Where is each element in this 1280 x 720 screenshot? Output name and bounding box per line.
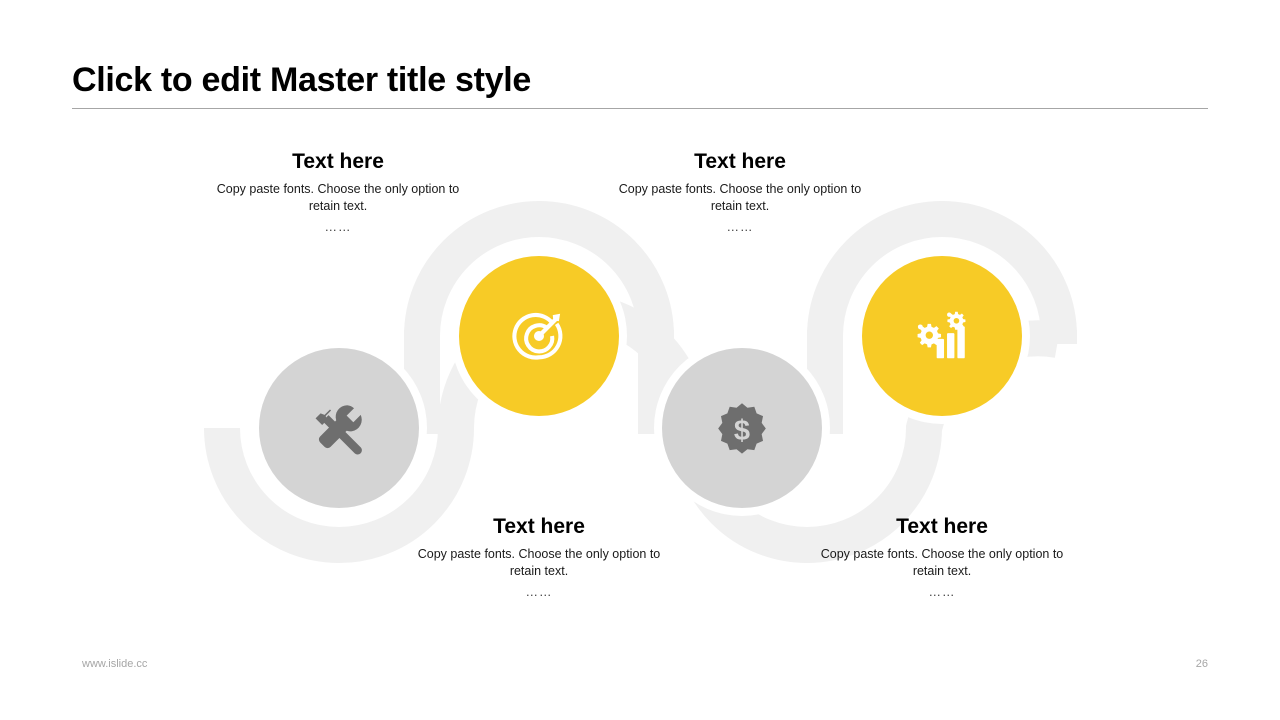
text-block-heading[interactable]: Text here (409, 513, 669, 540)
text-block-body[interactable]: Copy paste fonts. Choose the only option… (812, 546, 1072, 580)
text-block-ellipsis: …… (812, 584, 1072, 601)
node-bar-chart-gears[interactable] (862, 256, 1022, 416)
text-block-ellipsis: …… (208, 219, 468, 236)
svg-text:$: $ (734, 415, 750, 447)
text-block-heading[interactable]: Text here (208, 148, 468, 175)
bar-chart-gears-icon (911, 305, 973, 367)
title-block: Click to edit Master title style (72, 58, 1208, 102)
target-arrow-icon (508, 305, 570, 367)
text-block-1: Text here Copy paste fonts. Choose the o… (208, 148, 468, 236)
dollar-badge-icon: $ (711, 397, 773, 459)
node-dollar-badge[interactable]: $ (662, 348, 822, 508)
text-block-heading[interactable]: Text here (610, 148, 870, 175)
text-block-ellipsis: …… (610, 219, 870, 236)
text-block-body[interactable]: Copy paste fonts. Choose the only option… (409, 546, 669, 580)
title-divider (72, 108, 1208, 109)
text-block-4: Text here Copy paste fonts. Choose the o… (812, 513, 1072, 601)
text-block-heading[interactable]: Text here (812, 513, 1072, 540)
footer-url[interactable]: www.islide.cc (82, 658, 147, 670)
text-block-2: Text here Copy paste fonts. Choose the o… (610, 148, 870, 236)
text-block-body[interactable]: Copy paste fonts. Choose the only option… (610, 181, 870, 215)
text-block-3: Text here Copy paste fonts. Choose the o… (409, 513, 669, 601)
slide-canvas: Click to edit Master title style (0, 0, 1280, 720)
page-title[interactable]: Click to edit Master title style (72, 58, 1208, 102)
footer-page-number: 26 (1178, 658, 1208, 670)
hammer-wrench-icon (308, 397, 370, 459)
node-hammer-wrench[interactable] (259, 348, 419, 508)
text-block-ellipsis: …… (409, 584, 669, 601)
text-block-body[interactable]: Copy paste fonts. Choose the only option… (208, 181, 468, 215)
node-target-arrow[interactable] (459, 256, 619, 416)
